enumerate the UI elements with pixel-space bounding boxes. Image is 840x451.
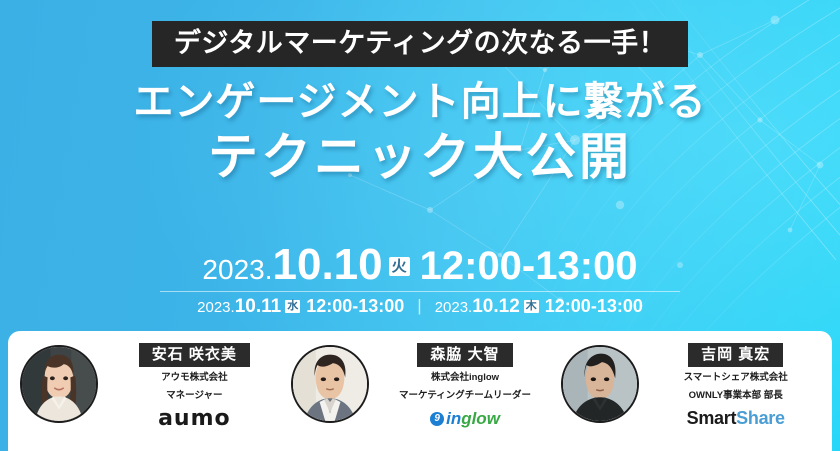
speaker-3-avatar [561,345,639,423]
primary-date-dayofweek: 火 [389,257,410,276]
secondary-date-1-day: 10.11 [235,296,282,317]
inglow-logo-text-b: glow [461,410,500,427]
inglow-logo-text-a: in [446,410,461,427]
secondary-dates: 2023.10.11水12:00-13:00|2023.10.12木12:00-… [0,297,840,316]
speaker-3-info: 吉岡 真宏 スマートシェア株式会社 OWNLY事業本部 部長 SmartShar… [639,341,826,430]
speaker-3-title: OWNLY事業本部 部長 [645,389,826,403]
speaker-1-info: 安石 咲衣美 アウモ株式会社 マネージャー aumo [98,341,285,430]
secondary-date-1: 2023.10.11水12:00-13:00 [197,297,404,316]
date-divider-rule [160,291,680,292]
secondary-date-2: 2023.10.12木12:00-13:00 [435,297,643,316]
secondary-date-1-year: 2023. [197,299,235,316]
headline-line-2: エンゲージメント向上に繋がる [0,80,840,124]
speaker-photo-icon [22,347,96,421]
secondary-date-1-time: 12:00-13:00 [306,296,404,316]
webinar-banner: デジタルマーケティングの次なる一手！ エンゲージメント向上に繋がる テクニック大… [0,0,840,451]
inglow-logo: 9 in glow [430,410,500,427]
speakers-panel: 安石 咲衣美 アウモ株式会社 マネージャー aumo [8,331,832,451]
speaker-2-title: マーケティングチームリーダー [375,389,556,403]
speaker-3-logo: SmartShare [645,408,826,430]
speaker-1-logo: aumo [104,408,285,430]
speaker-photo-icon [563,347,637,421]
primary-date-time: 12:00-13:00 [420,244,638,288]
secondary-dates-separator: | [417,297,421,314]
primary-date-year: 2023. [202,254,272,285]
smartshare-logo-text-a: Smart [687,408,737,428]
secondary-date-2-year: 2023. [435,299,473,316]
speaker-2-name: 森脇 大智 [417,343,512,367]
speaker-photo-icon [293,347,367,421]
speaker-card-2: 森脇 大智 株式会社inglow マーケティングチームリーダー 9 in glo… [285,341,556,430]
inglow-logo-mark: 9 [430,412,444,426]
secondary-date-1-dayofweek: 水 [285,300,300,313]
speaker-card-1: 安石 咲衣美 アウモ株式会社 マネージャー aumo [14,341,285,430]
secondary-date-2-day: 10.12 [472,296,520,317]
aumo-logo-text: aumo [158,408,231,430]
smartshare-logo-text-b: Share [736,408,785,428]
speaker-1-title: マネージャー [104,389,285,403]
speaker-2-avatar [291,345,369,423]
secondary-date-2-dayofweek: 木 [524,300,539,313]
smartshare-logo: SmartShare [687,409,785,428]
speaker-2-company: 株式会社inglow [375,371,556,385]
kicker-bar: デジタルマーケティングの次なる一手！ [152,21,688,67]
secondary-date-2-time: 12:00-13:00 [545,296,643,316]
headline-line-3: テクニック大公開 [0,130,840,185]
speaker-3-name: 吉岡 真宏 [688,343,783,367]
speaker-2-logo: 9 in glow [375,408,556,430]
speaker-card-3: 吉岡 真宏 スマートシェア株式会社 OWNLY事業本部 部長 SmartShar… [555,341,826,430]
headline-block: デジタルマーケティングの次なる一手！ エンゲージメント向上に繋がる テクニック大… [0,0,840,185]
speaker-3-company: スマートシェア株式会社 [645,371,826,385]
primary-date-day: 10.10 [273,240,383,289]
speaker-1-company: アウモ株式会社 [104,371,285,385]
speaker-1-avatar [20,345,98,423]
primary-date: 2023.10.10火12:00-13:00 [0,243,840,287]
speaker-1-name: 安石 咲衣美 [139,343,250,367]
speaker-2-info: 森脇 大智 株式会社inglow マーケティングチームリーダー 9 in glo… [369,341,556,430]
